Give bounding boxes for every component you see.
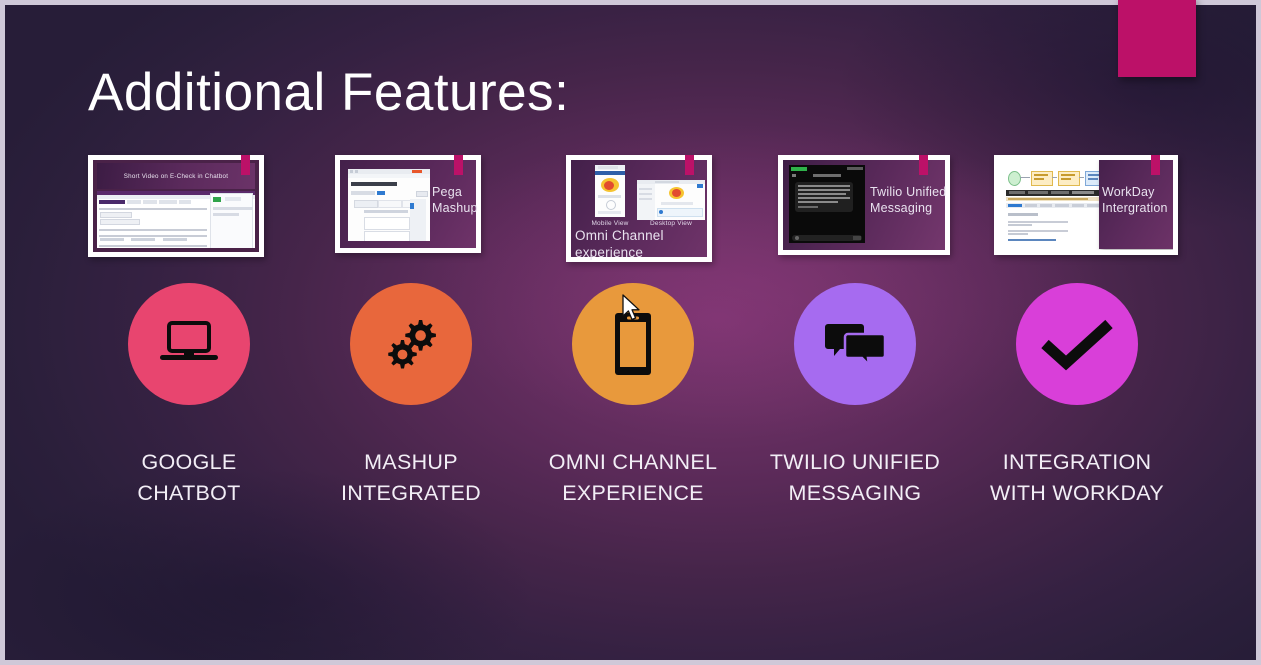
gears-icon xyxy=(381,314,441,374)
thumbnail-card-workday[interactable]: WorkDay Intergration xyxy=(994,155,1178,255)
feature-circle-1[interactable] xyxy=(128,283,250,405)
thumbnail-tag-1 xyxy=(241,155,250,175)
thumbnail-tag-5 xyxy=(1151,155,1160,175)
chat-bubbles-icon xyxy=(824,320,886,368)
feature-twilio-messaging[interactable]: TWILIO UNIFIED MESSAGING xyxy=(740,283,970,508)
feature-label-2: MASHUP INTEGRATED xyxy=(296,447,526,508)
thumbnail-screenshot-form xyxy=(97,191,255,248)
feature-label-5: INTEGRATION WITH WORKDAY xyxy=(962,447,1192,508)
feature-circle-2[interactable] xyxy=(350,283,472,405)
page-title: Additional Features: xyxy=(88,63,569,124)
checkmark-icon xyxy=(1040,316,1114,372)
feature-label-3: OMNI CHANNEL EXPERIENCE xyxy=(518,447,748,508)
thumbnail-tag-3 xyxy=(685,155,694,175)
thumbnail-row: Short Video on E-Check in Chatbot xyxy=(88,155,1178,270)
feature-circle-5[interactable] xyxy=(1016,283,1138,405)
thumbnail-tag-4 xyxy=(919,155,928,175)
thumbnail-caption-3: Omni Channel experience xyxy=(575,228,712,262)
thumbnail-sublabel-mobile: Mobile View xyxy=(577,220,643,228)
thumbnail-card-omni-channel[interactable]: Mobile View Desktop View Omni Channel ex… xyxy=(566,155,712,262)
presentation-slide: Additional Features: Short Video on E-Ch… xyxy=(0,0,1261,665)
feature-label-1: GOOGLE CHATBOT xyxy=(74,447,304,508)
thumbnail-card-twilio[interactable]: Twilio Unified Messaging xyxy=(778,155,950,255)
thumbnail-sublabel-desktop: Desktop View xyxy=(637,220,705,228)
feature-label-4: TWILIO UNIFIED MESSAGING xyxy=(740,447,970,508)
feature-workday-integration[interactable]: INTEGRATION WITH WORKDAY xyxy=(962,283,1192,508)
feature-google-chatbot[interactable]: GOOGLE CHATBOT xyxy=(74,283,304,508)
thumbnail-caption-4: Twilio Unified Messaging xyxy=(870,185,950,216)
thumbnail-inner: Short Video on E-Check in Chatbot xyxy=(93,160,259,252)
feature-circle-4[interactable] xyxy=(794,283,916,405)
feature-mashup-integrated[interactable]: MASHUP INTEGRATED xyxy=(296,283,526,508)
mouse-pointer xyxy=(622,294,642,329)
thumbnail-screenshot-mobile xyxy=(595,165,625,217)
thumbnail-screenshot-desktop xyxy=(637,180,705,220)
thumbnail-card-pega-mashup[interactable]: Pega Mashup xyxy=(335,155,481,253)
thumbnail-screenshot-browser xyxy=(348,169,430,241)
thumbnail-caption-5: WorkDay Intergration xyxy=(1102,185,1178,216)
thumbnail-card-google-chatbot[interactable]: Short Video on E-Check in Chatbot xyxy=(88,155,264,257)
thumbnail-caption-2: Pega Mashup xyxy=(432,185,481,216)
thumbnail-tag-2 xyxy=(454,155,463,175)
thumbnail-screenshot-phone xyxy=(789,165,865,243)
magenta-accent-square xyxy=(1118,0,1196,77)
thumbnail-caption-1: Short Video on E-Check in Chatbot xyxy=(97,163,255,189)
laptop-icon xyxy=(158,320,220,368)
